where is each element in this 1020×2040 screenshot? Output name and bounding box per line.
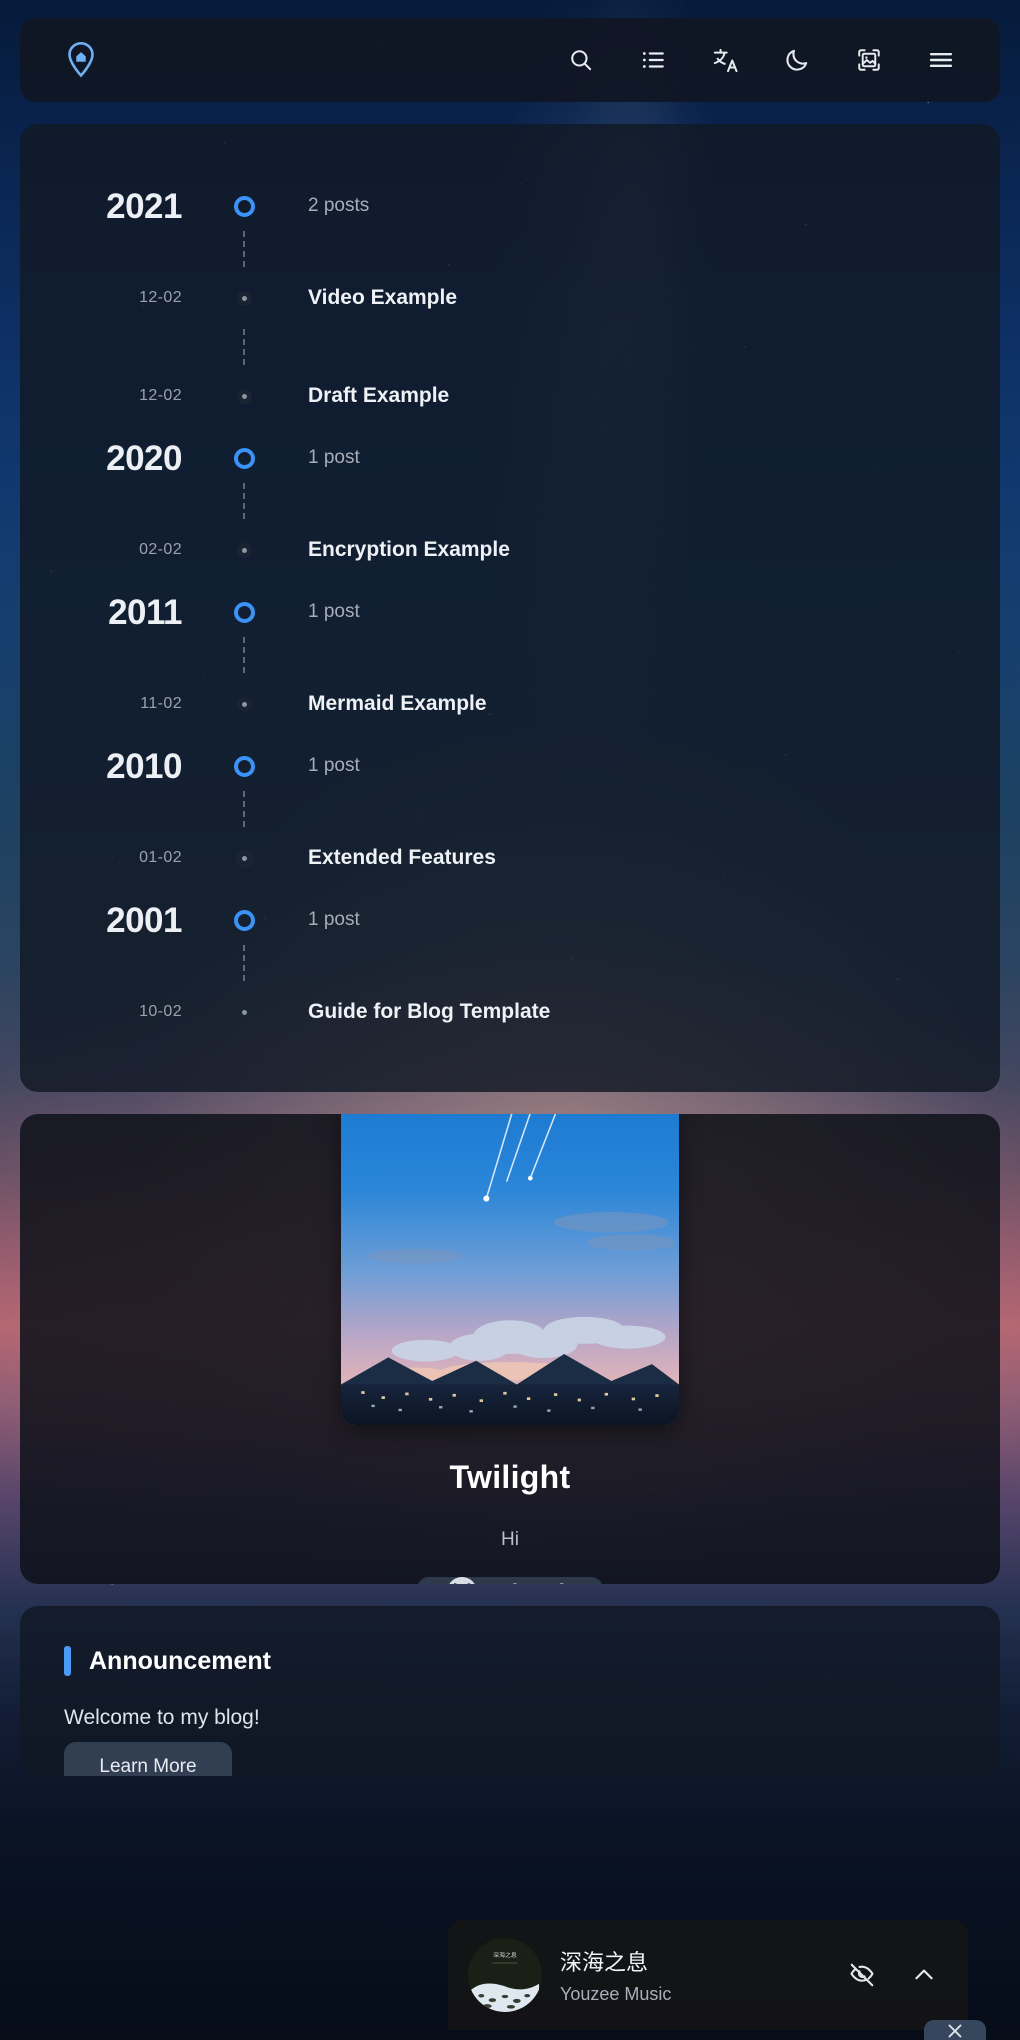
timeline-post-row[interactable]: 10-02 Guide for Blog Template	[20, 978, 1000, 1046]
eye-off-icon[interactable]	[840, 1953, 884, 1997]
timeline-marker-cell	[216, 389, 272, 404]
music-metadata: 深海之息 Youzee Music	[560, 1945, 822, 2005]
toc-list-icon[interactable]	[634, 41, 672, 79]
year-count-cell: 1 post	[272, 447, 1000, 469]
year-post-count: 2 posts	[308, 195, 369, 216]
year-count-cell: 1 post	[272, 755, 1000, 777]
post-date: 01-02	[139, 849, 182, 866]
year-ring-marker	[234, 602, 255, 623]
moon-icon[interactable]	[778, 41, 816, 79]
post-title-cell: Video Example	[272, 286, 1000, 310]
learn-more-button[interactable]: Learn More	[64, 1742, 232, 1776]
timeline-marker-cell	[216, 697, 272, 712]
year-count-cell: 1 post	[272, 909, 1000, 931]
timeline-marker-cell	[216, 849, 272, 868]
post-dot-marker	[235, 1003, 254, 1022]
archive-timeline-card: 2021 2 posts 12-02 Video Example 12-02 D…	[20, 124, 1000, 1092]
post-date-cell: 01-02	[20, 849, 216, 867]
song-artist: Youzee Music	[560, 1984, 822, 2005]
post-dot-marker	[237, 389, 252, 404]
timeline-marker-cell	[216, 196, 272, 217]
github-button[interactable]: GitHub	[417, 1577, 603, 1585]
year-label: 2001	[106, 901, 182, 940]
year-post-count: 1 post	[308, 909, 360, 930]
post-title-link[interactable]: Extended Features	[308, 846, 496, 869]
year-label: 2020	[106, 439, 182, 478]
post-title-link[interactable]: Mermaid Example	[308, 692, 487, 715]
year-post-count: 1 post	[308, 447, 360, 468]
year-label-cell: 2010	[20, 749, 216, 784]
post-title-cell: Extended Features	[272, 846, 1000, 870]
timeline-connector	[20, 948, 1000, 978]
year-ring-marker	[234, 910, 255, 931]
post-dot-marker	[237, 291, 252, 306]
year-post-count: 1 post	[308, 601, 360, 622]
post-title-cell: Draft Example	[272, 384, 1000, 408]
post-dot-marker	[237, 697, 252, 712]
post-date-cell: 12-02	[20, 387, 216, 405]
post-title-link[interactable]: Encryption Example	[308, 538, 510, 561]
post-date: 11-02	[140, 695, 182, 712]
profile-bio: Hi	[501, 1529, 519, 1551]
timeline-marker-cell	[216, 910, 272, 931]
year-ring-marker	[234, 756, 255, 777]
timeline-year-group: 2021 2 posts	[20, 178, 1000, 234]
search-icon[interactable]	[562, 41, 600, 79]
post-date: 12-02	[139, 289, 182, 306]
post-title-link[interactable]: Draft Example	[308, 384, 449, 407]
year-label-cell: 2011	[20, 595, 216, 630]
timeline-year-group: 2020 1 post	[20, 430, 1000, 486]
post-date: 02-02	[139, 541, 182, 558]
timeline-year-group: 2001 1 post	[20, 892, 1000, 948]
image-frame-icon[interactable]	[850, 41, 888, 79]
announcement-header: Announcement	[64, 1646, 956, 1676]
github-label: GitHub	[493, 1580, 573, 1584]
year-count-cell: 2 posts	[272, 195, 1000, 217]
post-title-cell: Encryption Example	[272, 538, 1000, 562]
timeline-connector	[20, 794, 1000, 824]
translate-icon[interactable]	[706, 41, 744, 79]
deep-sea-breath-cover: 深海之息	[468, 1938, 542, 2012]
post-title-cell: Guide for Blog Template	[272, 1000, 1000, 1024]
timeline-year-group: 2011 1 post	[20, 584, 1000, 640]
timeline-post-row[interactable]: 11-02 Mermaid Example	[20, 670, 1000, 738]
announcement-card: Announcement Welcome to my blog! Learn M…	[20, 1606, 1000, 1776]
timeline-post-row[interactable]: 02-02 Encryption Example	[20, 516, 1000, 584]
post-date: 12-02	[139, 387, 182, 404]
timeline-marker-cell	[216, 291, 272, 306]
timeline-marker-cell	[216, 602, 272, 623]
hamburger-icon[interactable]	[922, 41, 960, 79]
chevron-up-icon[interactable]	[902, 1953, 946, 1997]
top-navbar	[20, 18, 1000, 102]
year-label-cell: 2020	[20, 441, 216, 476]
music-player-widget: 深海之息 深海之息 Youzee Music	[448, 1920, 968, 2030]
timeline-year-group: 2010 1 post	[20, 738, 1000, 794]
timeline-connector	[20, 486, 1000, 516]
timeline-marker-cell	[216, 756, 272, 777]
timeline-post-row[interactable]: 01-02 Extended Features	[20, 824, 1000, 892]
timeline-connector	[20, 332, 1000, 362]
timeline-marker-cell	[216, 448, 272, 469]
close-icon[interactable]	[924, 2020, 986, 2040]
timeline-post-row[interactable]: 12-02 Video Example	[20, 264, 1000, 332]
github-icon	[447, 1577, 477, 1585]
navbar-actions	[562, 41, 960, 79]
twilight-landscape-avatar	[341, 1114, 679, 1425]
timeline-marker-cell	[216, 1003, 272, 1022]
announcement-title: Announcement	[89, 1647, 271, 1676]
post-date-cell: 10-02	[20, 1003, 216, 1021]
timeline-marker-cell	[216, 543, 272, 558]
song-title: 深海之息	[560, 1945, 822, 1977]
post-date-cell: 12-02	[20, 289, 216, 307]
profile-name: Twilight	[450, 1459, 571, 1496]
timeline-post-row[interactable]: 12-02 Draft Example	[20, 362, 1000, 430]
post-title-link[interactable]: Video Example	[308, 286, 457, 309]
post-title-cell: Mermaid Example	[272, 692, 1000, 716]
announcement-accent-bar	[64, 1646, 71, 1676]
timeline-connector	[20, 640, 1000, 670]
year-label-cell: 2001	[20, 903, 216, 938]
year-count-cell: 1 post	[272, 601, 1000, 623]
year-label: 2021	[106, 187, 182, 226]
post-date-cell: 11-02	[20, 695, 216, 713]
year-post-count: 1 post	[308, 755, 360, 776]
profile-card: Twilight Hi GitHub	[20, 1114, 1000, 1584]
post-dot-marker	[237, 543, 252, 558]
year-label-cell: 2021	[20, 189, 216, 224]
year-ring-marker	[234, 448, 255, 469]
timeline-connector	[20, 234, 1000, 264]
post-date-cell: 02-02	[20, 541, 216, 559]
post-title-link[interactable]: Guide for Blog Template	[308, 1000, 550, 1023]
home-pin-logo[interactable]	[60, 39, 102, 81]
post-dot-marker	[235, 849, 254, 868]
announcement-text: Welcome to my blog!	[64, 1706, 956, 1730]
post-date: 10-02	[139, 1003, 182, 1020]
year-label: 2011	[108, 593, 182, 632]
year-ring-marker	[234, 196, 255, 217]
year-label: 2010	[106, 747, 182, 786]
